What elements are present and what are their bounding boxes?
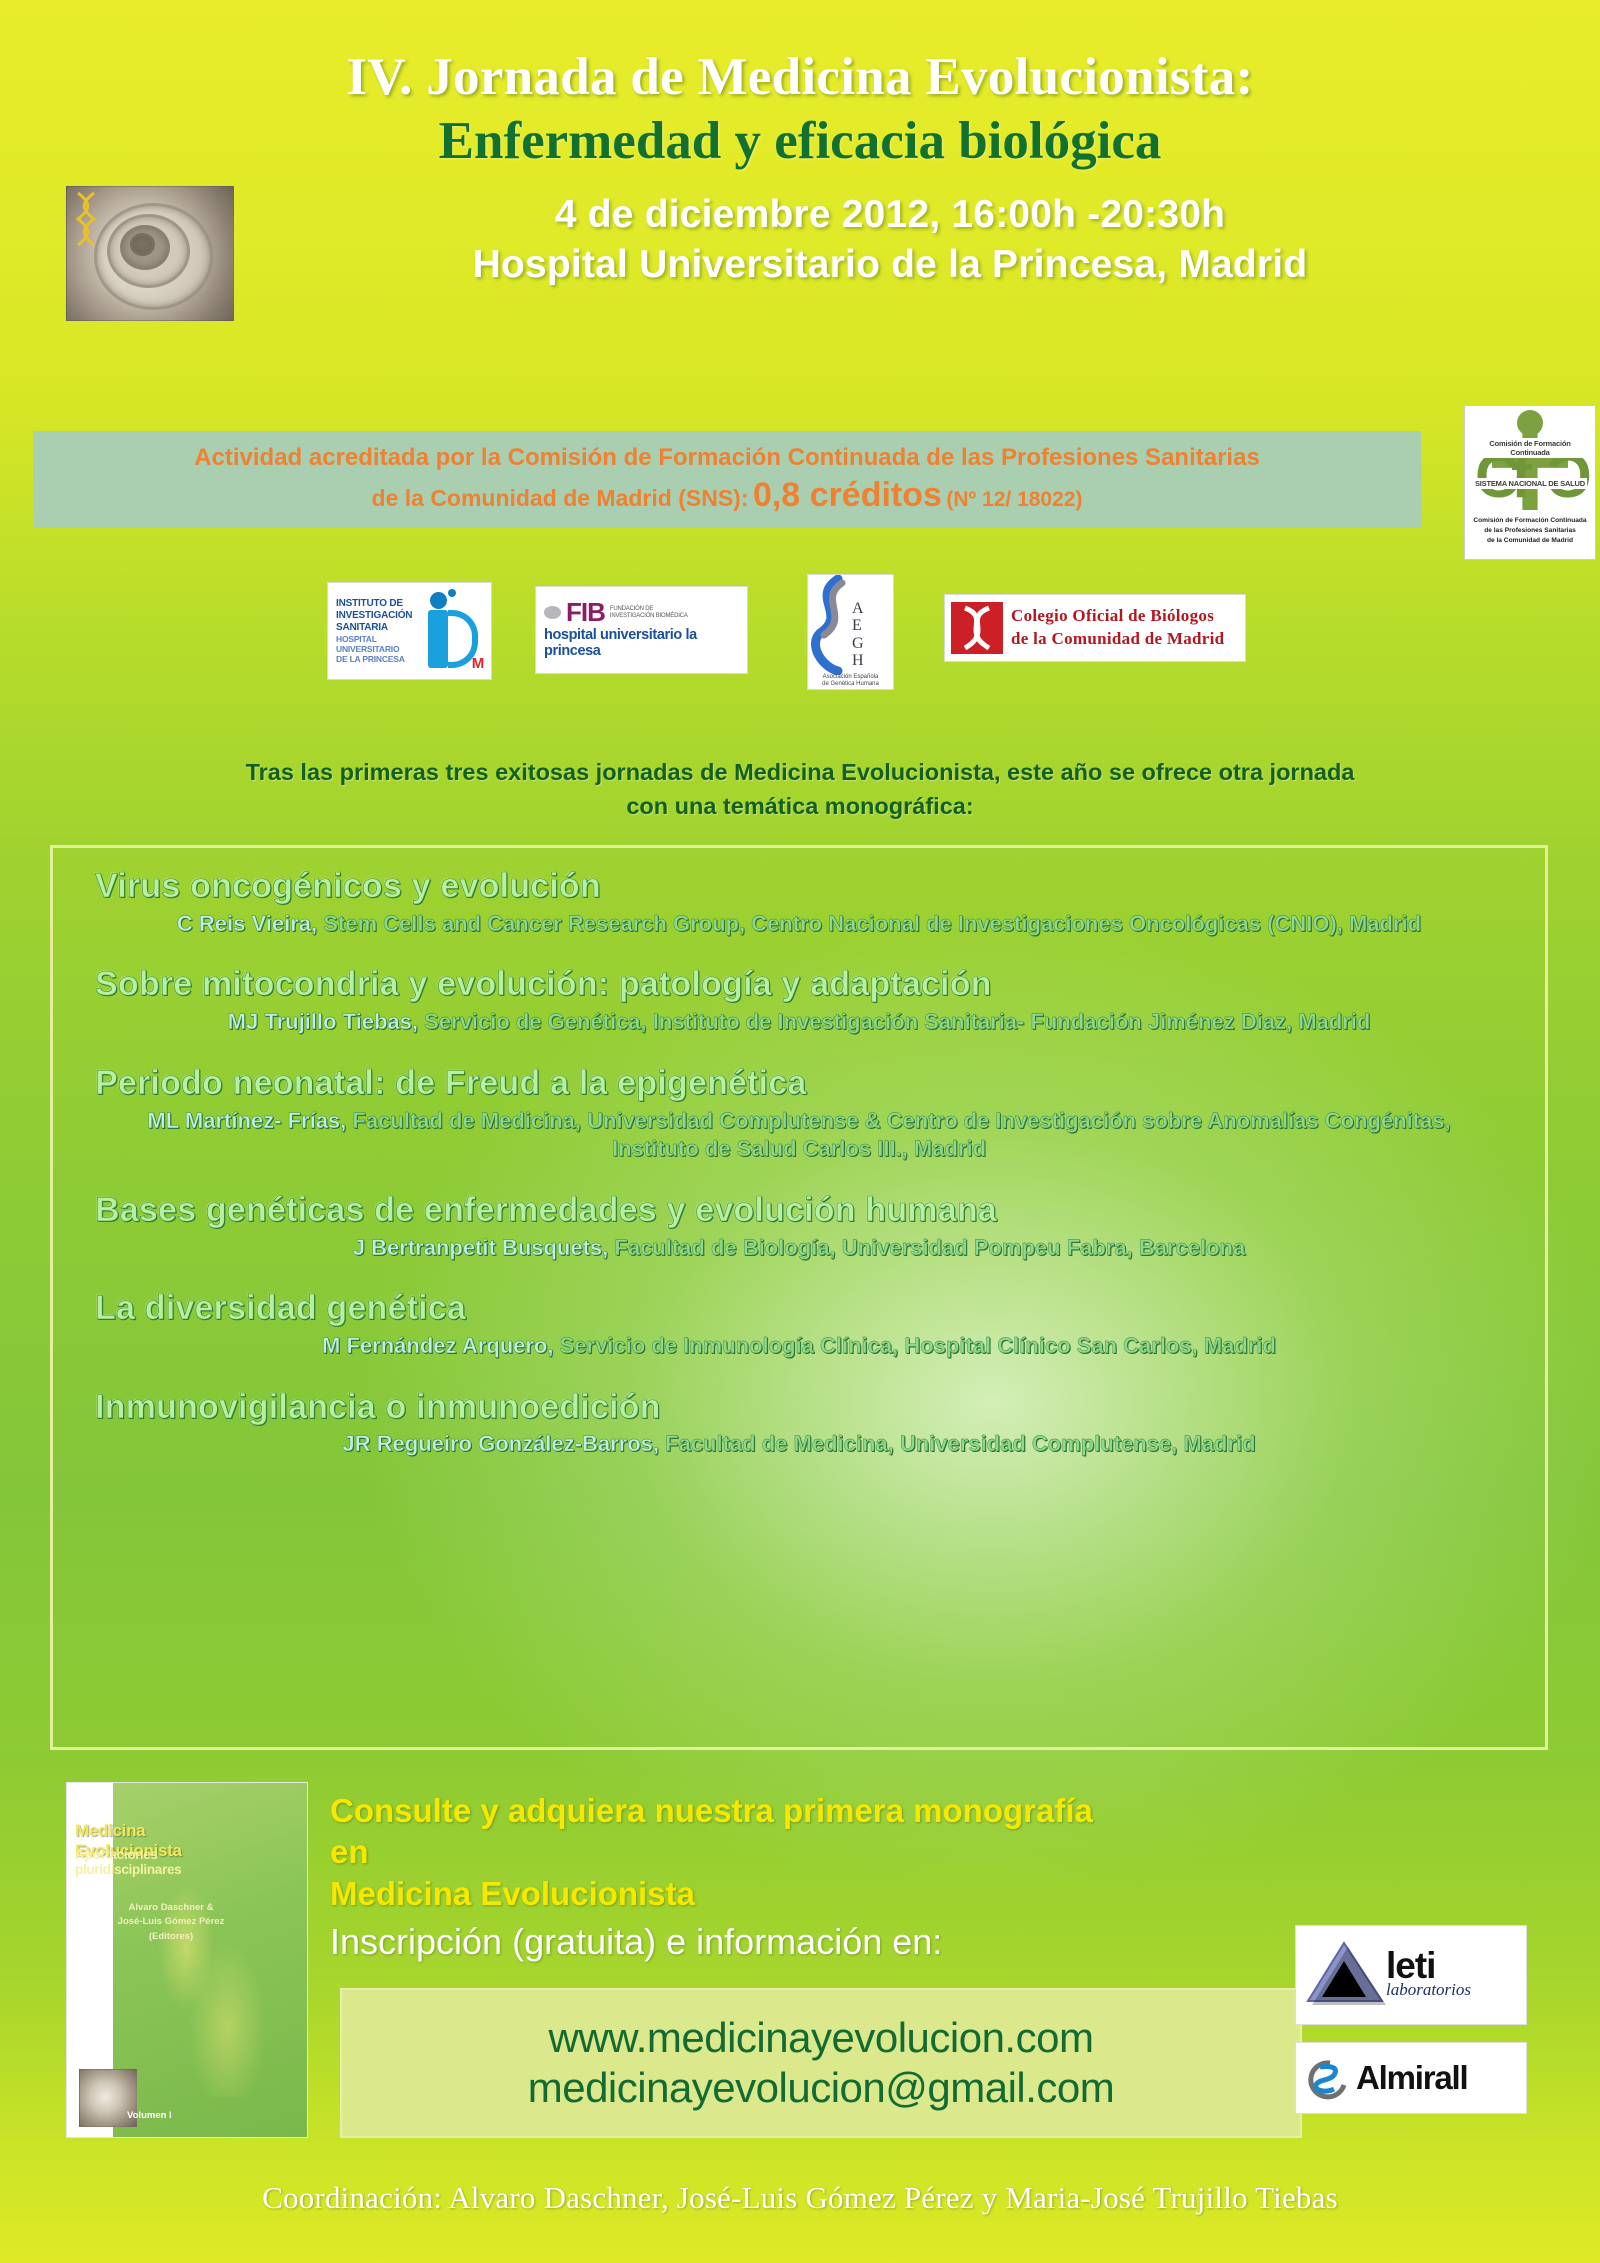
- almirall-mark-icon: [1304, 2055, 1350, 2101]
- event-venue: Hospital Universitario de la Princesa, M…: [250, 240, 1530, 290]
- accreditation-line1: Actividad acreditada por la Comisión de …: [33, 444, 1421, 472]
- promo-line2: Medicina Evolucionista: [330, 1873, 1120, 1914]
- aegh-letters: AEGH: [852, 575, 864, 689]
- talk-affiliation: Facultad de Biología, Universidad Pompeu…: [608, 1235, 1245, 1260]
- accreditation-line2: de la Comunidad de Madrid (SNS):: [372, 485, 749, 511]
- talk-affiliation: Facultad de Medicina, Universidad Complu…: [659, 1431, 1256, 1456]
- program-talk: Virus oncogénicos y evolución C Reis Vie…: [81, 866, 1517, 938]
- contact-box: www.medicinayevolucion.com medicinayevol…: [340, 1988, 1302, 2138]
- talk-title: La diversidad genética: [95, 1288, 1517, 1329]
- sponsor-logo-row: INSTITUTO DE INVESTIGACIÓN SANITARIA HOS…: [0, 572, 1600, 692]
- talk-title: Bases genéticas de enfermedades y evoluc…: [95, 1190, 1517, 1231]
- fib-subtext: FUNDACIÓN DE INVESTIGACIÓN BIOMÉDICA: [610, 606, 688, 620]
- snail-shell-photo: [66, 186, 234, 321]
- poster-title-block: IV. Jornada de Medicina Evolucionista: E…: [0, 0, 1600, 172]
- intro-line2: con una temática monográfica:: [60, 789, 1540, 823]
- credits-reference: (Nº 12/ 18022): [946, 488, 1082, 511]
- fib-acronym: FIB: [566, 601, 605, 624]
- iis-logo-mark: M: [412, 588, 486, 674]
- email-link[interactable]: medicinayevolucion@gmail.com: [528, 2063, 1115, 2113]
- cfc-footer-line3: de la Comunidad de Madrid: [1484, 536, 1576, 546]
- intro-text: Tras las primeras tres exitosas jornadas…: [60, 755, 1540, 823]
- salud-madrid-mark: M: [472, 655, 485, 672]
- cfc-logo: CfC Comisión de Formación Continuada SIS…: [1464, 405, 1596, 560]
- monograph-promo: Consulte y adquiera nuestra primera mono…: [330, 1790, 1120, 1914]
- logo-almirall: Almirall: [1295, 2042, 1527, 2114]
- talk-authors: J Bertranpetit Busquets, Facultad de Bio…: [81, 1234, 1517, 1263]
- book-editors: Alvaro Daschner & José-Luis Gómez Pérez …: [91, 1901, 251, 1944]
- accreditation-banner: Actividad acreditada por la Comisión de …: [33, 431, 1421, 528]
- accreditation-line2-row: de la Comunidad de Madrid (SNS): 0,8 cré…: [33, 476, 1421, 515]
- dna-helix-icon: [73, 191, 99, 247]
- talk-title: Sobre mitocondria y evolución: patología…: [95, 964, 1517, 1005]
- program-talk: Periodo neonatal: de Freud a la epigenét…: [81, 1063, 1517, 1164]
- cfc-band-bottom: SISTEMA NACIONAL DE SALUD: [1473, 478, 1587, 489]
- talk-authors: MJ Trujillo Tiebas, Servicio de Genética…: [81, 1008, 1517, 1037]
- registration-label: Inscripción (gratuita) e información en:: [330, 1920, 1250, 1963]
- iis-logo-text: INSTITUTO DE INVESTIGACIÓN SANITARIA HOS…: [328, 598, 412, 663]
- talk-title: Virus oncogénicos y evolución: [95, 866, 1517, 907]
- talk-authors: M Fernández Arquero, Servicio de Inmunol…: [81, 1332, 1517, 1361]
- program-talk: Sobre mitocondria y evolución: patología…: [81, 964, 1517, 1036]
- talk-speaker: ML Martínez- Frías,: [147, 1108, 346, 1133]
- credits-value: 0,8 créditos: [753, 476, 942, 514]
- program-talk: La diversidad genética M Fernández Arque…: [81, 1288, 1517, 1360]
- program-panel: Virus oncogénicos y evolución C Reis Vie…: [50, 845, 1548, 1750]
- talk-authors: JR Regueiro González-Barros, Facultad de…: [81, 1430, 1517, 1459]
- event-date: 4 de diciembre 2012, 16:00h -20:30h: [250, 190, 1530, 240]
- talk-title: Inmunovigilancia o inmunoedición: [95, 1387, 1517, 1428]
- talk-affiliation: Stem Cells and Cancer Research Group, Ce…: [317, 911, 1421, 936]
- page-title-line1: IV. Jornada de Medicina Evolucionista:: [0, 48, 1600, 107]
- talk-authors: C Reis Vieira, Stem Cells and Cancer Res…: [81, 910, 1517, 939]
- leti-triangle-icon: [1302, 1937, 1386, 2013]
- talk-speaker: M Fernández Arquero,: [322, 1333, 553, 1358]
- hero-block: 4 de diciembre 2012, 16:00h -20:30h Hosp…: [0, 186, 1600, 336]
- promo-line1: Consulte y adquiera nuestra primera mono…: [330, 1790, 1120, 1873]
- cfc-footer-line1: Comisión de Formación Continuada: [1470, 516, 1589, 526]
- program-talk: Bases genéticas de enfermedades y evoluc…: [81, 1190, 1517, 1262]
- book-subtitle: Aportaciones pluridisciplinares: [75, 1847, 260, 1877]
- cfc-logo-mark: CfC Comisión de Formación Continuada SIS…: [1471, 408, 1589, 516]
- coordination-footer: Coordinación: Alvaro Daschner, José-Luis…: [0, 2180, 1600, 2216]
- logo-fib-princesa: FIB FUNDACIÓN DE INVESTIGACIÓN BIOMÉDICA…: [535, 586, 748, 674]
- colegio-dna-square-icon: [951, 602, 1003, 654]
- talk-affiliation: Servicio de Inmunología Clínica, Hospita…: [553, 1333, 1275, 1358]
- aegh-dna-icon: [808, 575, 852, 675]
- cfc-footer-line2: de las Profesiones Sanitarias: [1481, 526, 1579, 536]
- talk-speaker: JR Regueiro González-Barros,: [342, 1431, 659, 1456]
- talk-speaker: J Bertranpetit Busquets,: [353, 1235, 609, 1260]
- fib-logo-top: FIB FUNDACIÓN DE INVESTIGACIÓN BIOMÉDICA: [544, 601, 747, 624]
- talk-affiliation: Servicio de Genética, Instituto de Inves…: [418, 1009, 1370, 1034]
- fib-hospital-line: hospital universitario la princesa: [544, 627, 747, 659]
- intro-line1: Tras las primeras tres exitosas jornadas…: [60, 755, 1540, 789]
- page-title-line2: Enfermedad y eficacia biológica: [0, 111, 1600, 172]
- fib-ellipse-icon: [544, 606, 561, 619]
- book-cover-image: Medicina Evolucionista Aportaciones plur…: [66, 1782, 308, 2138]
- talk-speaker: C Reis Vieira,: [177, 911, 317, 936]
- talk-authors: ML Martínez- Frías, Facultad de Medicina…: [81, 1107, 1517, 1164]
- talk-affiliation: Facultad de Medicina, Universidad Complu…: [346, 1108, 1450, 1162]
- aegh-footer: Asociación Española de Genética Humana: [808, 674, 893, 688]
- logo-colegio-biologos: Colegio Oficial de Biólogos de la Comuni…: [944, 594, 1246, 662]
- logo-instituto-investigacion-sanitaria: INSTITUTO DE INVESTIGACIÓN SANITARIA HOS…: [327, 582, 492, 680]
- talk-title: Periodo neonatal: de Freud a la epigenét…: [95, 1063, 1517, 1104]
- program-talk: Inmunovigilancia o inmunoedición JR Regu…: [81, 1387, 1517, 1459]
- event-details: 4 de diciembre 2012, 16:00h -20:30h Hosp…: [250, 190, 1530, 290]
- colegio-text: Colegio Oficial de Biólogos de la Comuni…: [1011, 605, 1224, 651]
- almirall-wordmark: Almirall: [1356, 2059, 1467, 2097]
- talk-speaker: MJ Trujillo Tiebas,: [228, 1009, 418, 1034]
- cfc-band-top: Comisión de Formación Continuada: [1473, 438, 1587, 458]
- logo-leti-laboratorios: leti laboratorios: [1295, 1925, 1527, 2025]
- leti-wordmark: leti laboratorios: [1386, 1950, 1471, 1999]
- website-link[interactable]: www.medicinayevolucion.com: [549, 2013, 1094, 2063]
- book-volume: Volumen I: [127, 2110, 172, 2121]
- logo-aegh: AEGH Asociación Española de Genética Hum…: [807, 574, 894, 690]
